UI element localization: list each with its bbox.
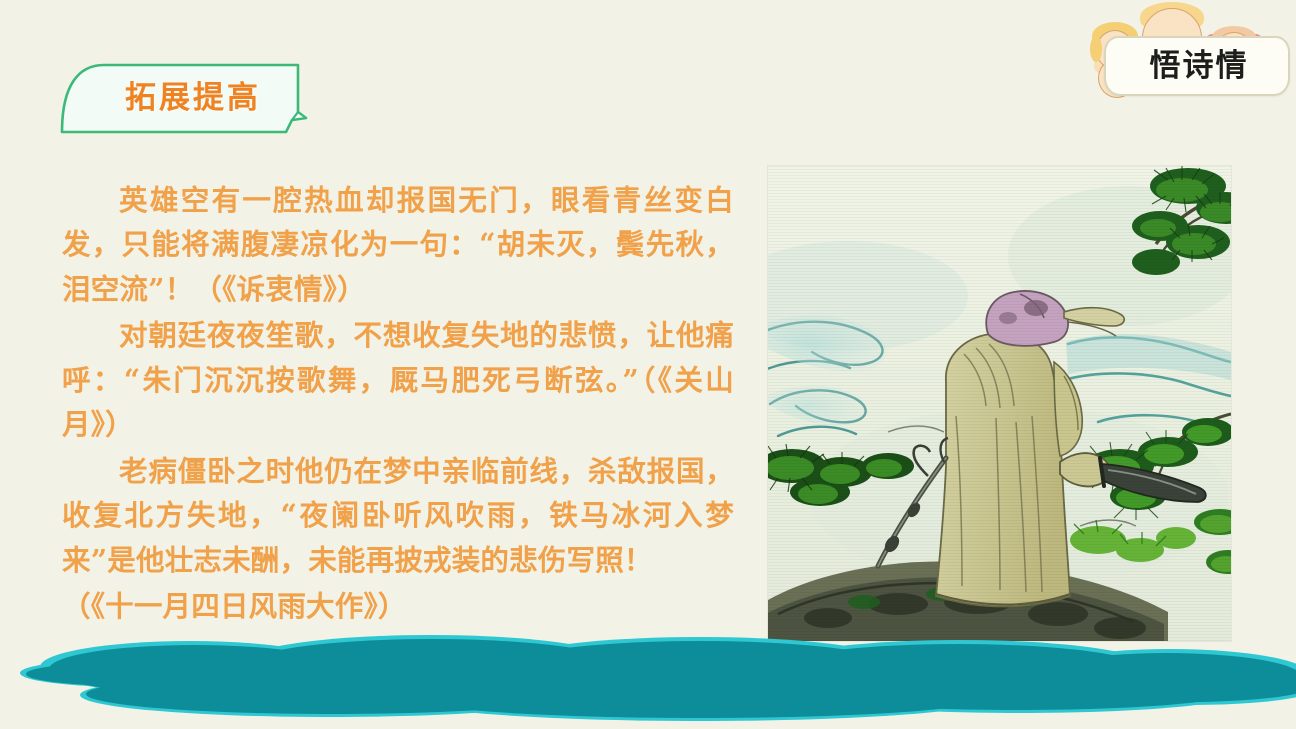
slide-root: 悟诗情 拓展提高 英雄空有一腔热血却报国无门，眼看青丝变白发，只能将满腹凄凉化为… xyxy=(0,0,1296,729)
chinese-ink-painting xyxy=(768,166,1231,641)
body-text-block: 英雄空有一腔热血却报国无门，眼看青丝变白发，只能将满腹凄凉化为一句：“胡未灭，鬓… xyxy=(62,178,734,631)
paragraph-1: 英雄空有一腔热血却报国无门，眼看青丝变白发，只能将满腹凄凉化为一句：“胡未灭，鬓… xyxy=(62,178,734,311)
section-title-banner: 拓展提高 xyxy=(60,62,310,134)
logo-card: 悟诗情 xyxy=(1104,36,1290,96)
bottom-teal-brush-decoration xyxy=(0,615,1296,729)
kid-hair-side xyxy=(1090,36,1102,62)
painting-artwork xyxy=(768,166,1231,641)
teal-cloud-brush-icon xyxy=(0,615,1296,729)
paragraph-2: 对朝廷夜夜笙歌，不想收复失地的悲愤，让他痛呼：“朱门沉沉按歌舞，厩马肥死弓断弦。… xyxy=(62,313,734,446)
wu-shi-qing-logo-badge: 悟诗情 xyxy=(1080,0,1296,108)
section-title-text: 拓展提高 xyxy=(108,78,278,118)
logo-card-label: 悟诗情 xyxy=(1146,51,1249,82)
paragraph-3: 老病僵卧之时他仍在梦中亲临前线，杀敌报国，收复北方失地，“夜阑卧听风吹雨，铁马冰… xyxy=(62,449,734,582)
